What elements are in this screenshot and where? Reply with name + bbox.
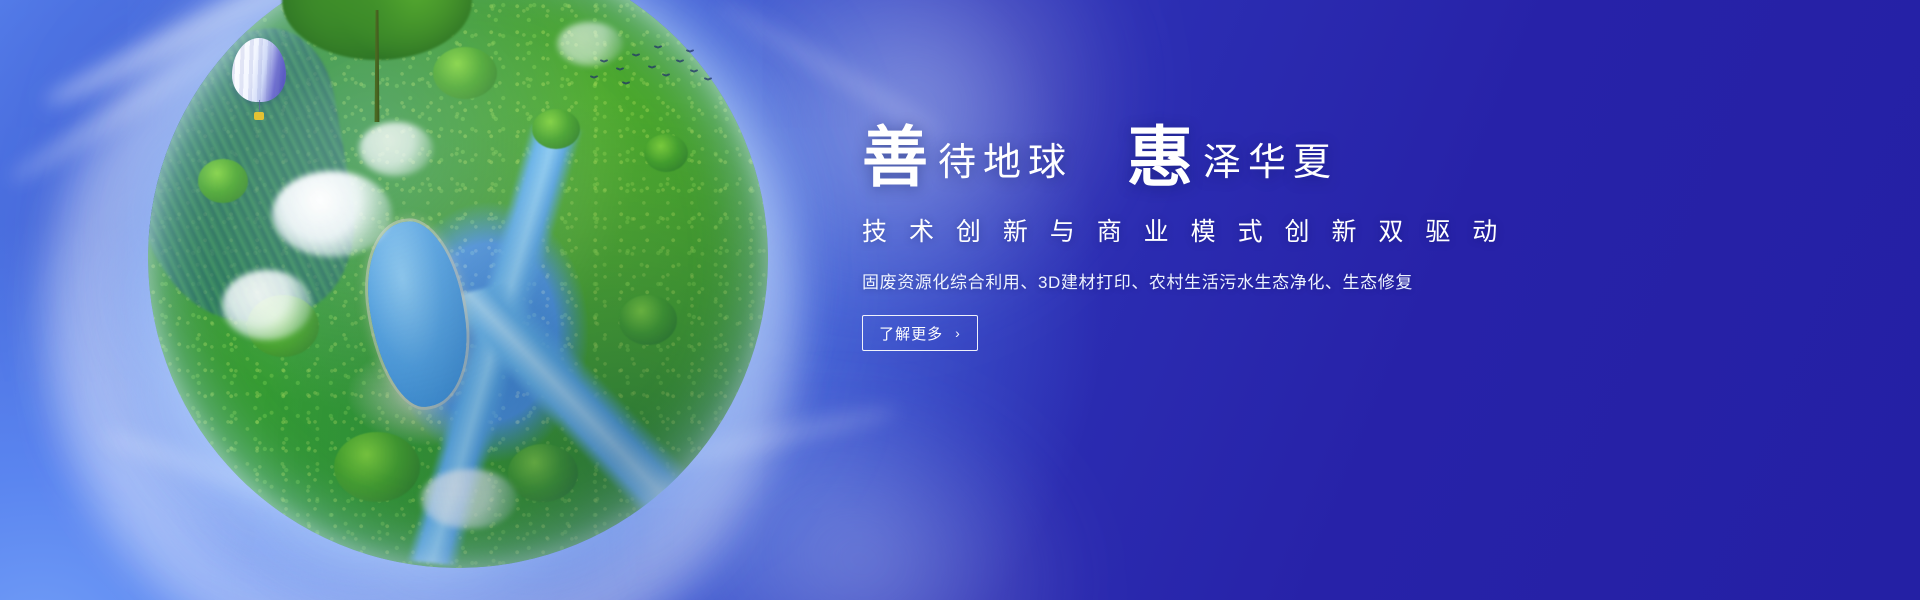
- bird-icon: [616, 66, 624, 71]
- bird-icon: [632, 52, 640, 57]
- headline: 善 待地球 惠 泽华夏: [862, 120, 1582, 186]
- bird-icon: [662, 72, 670, 77]
- headline-rest-2: 泽华夏: [1193, 144, 1338, 182]
- bird-icon: [600, 58, 608, 63]
- banner-content: 善 待地球 惠 泽华夏 技 术 创 新 与 商 业 模 式 创 新 双 驱 动 …: [862, 120, 1582, 351]
- headline-emphasis-2: 惠: [1127, 126, 1193, 192]
- large-tree: [282, 0, 472, 122]
- balloon-basket: [254, 112, 264, 120]
- hero-banner: 善 待地球 惠 泽华夏 技 术 创 新 与 商 业 模 式 创 新 双 驱 动 …: [0, 0, 1920, 600]
- learn-more-button[interactable]: 了解更多 ›: [862, 315, 978, 351]
- headline-rest-1: 待地球: [928, 144, 1073, 182]
- bird-icon: [648, 64, 656, 69]
- bird-icon: [622, 80, 630, 85]
- bird-icon: [686, 48, 694, 53]
- chevron-right-icon: ›: [955, 326, 961, 340]
- bird-icon: [590, 74, 598, 79]
- bird-icon: [676, 58, 684, 63]
- headline-emphasis-1: 善: [862, 126, 928, 192]
- bird-icon: [690, 68, 698, 73]
- balloon-envelope: [232, 38, 286, 102]
- learn-more-label: 了解更多: [879, 323, 943, 344]
- banner-description: 固废资源化综合利用、3D建材打印、农村生活污水生态净化、生态修复: [862, 268, 1582, 293]
- banner-subtitle: 技 术 创 新 与 商 业 模 式 创 新 双 驱 动: [862, 212, 1582, 248]
- hot-air-balloon-icon: [232, 38, 286, 122]
- bird-icon: [704, 76, 712, 81]
- bird-icon: [654, 44, 662, 49]
